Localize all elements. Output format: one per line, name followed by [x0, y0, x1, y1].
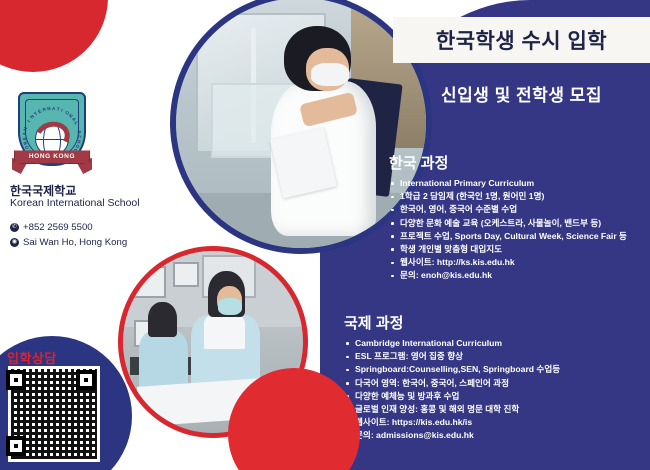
section-international-curriculum: 국제 과정 Cambridge International Curriculum…	[344, 312, 646, 443]
admissions-poster: 한국학생 수시 입학 신입생 및 전학생 모집 한국 과정 Internatio…	[0, 0, 650, 470]
section-heading-international: 국제 과정	[344, 312, 646, 333]
list-item: 프로젝트 수업, Sports Day, Cultural Week, Scie…	[389, 230, 647, 243]
list-item-email[interactable]: 문의: admissions@kis.edu.hk	[344, 429, 646, 442]
list-item-website[interactable]: 웹사이트: https://kis.edu.hk/is	[344, 416, 646, 429]
qr-eye-top-left	[6, 370, 26, 390]
list-item: 다양한 문화 예술 교육 (오케스트라, 사물놀이, 밴드부 등)	[389, 217, 647, 230]
list-item: 글로벌 인재 양성: 홍콩 및 해외 명문 대학 진학	[344, 403, 646, 416]
contact-address: ◉ Sai Wan Ho, Hong Kong	[10, 237, 127, 248]
list-item: 다양한 예체능 및 방과후 수업	[344, 390, 646, 403]
section-korean-curriculum: 한국 과정 International Primary Curriculum 1…	[389, 152, 647, 283]
section-heading-korean: 한국 과정	[389, 152, 647, 173]
list-item-website[interactable]: 웹사이트: http://ks.kis.edu.hk	[389, 256, 647, 269]
list-item: 다국어 영역: 한국어, 중국어, 스페인어 과정	[344, 377, 646, 390]
address-text: Sai Wan Ho, Hong Kong	[23, 237, 127, 248]
red-circle-decoration-top-left	[0, 0, 108, 72]
list-item: Springboard:Counselling,SEN, Springboard…	[344, 363, 646, 376]
list-item: International Primary Curriculum	[389, 177, 647, 190]
list-item: 한국어, 영어, 중국어 수준별 수업	[389, 203, 647, 216]
list-item: Cambridge International Curriculum	[344, 337, 646, 350]
qr-eye-bottom-left	[6, 436, 26, 456]
school-logo: KOREAN INTERNATIONAL SCHOOL HONG KONG	[12, 92, 92, 176]
qr-label: 입학상담	[7, 348, 57, 367]
contact-phone[interactable]: ✆ +852 2569 5500	[10, 222, 93, 233]
school-name-english: Korean International School	[10, 197, 140, 209]
bullet-list-international: Cambridge International Curriculum ESL 프…	[344, 337, 646, 443]
page-title: 한국학생 수시 입학	[393, 17, 650, 63]
phone-icon: ✆	[10, 223, 19, 232]
logo-banner-text: HONG KONG	[14, 149, 90, 164]
list-item: ESL 프로그램: 영어 집중 향상	[344, 350, 646, 363]
bullet-list-korean: International Primary Curriculum 1학급 2 담…	[389, 177, 647, 283]
qr-eye-top-right	[76, 370, 96, 390]
location-pin-icon: ◉	[10, 238, 19, 247]
page-subtitle: 신입생 및 전학생 모집	[393, 78, 650, 108]
list-item: 1학급 2 담임제 (한국인 1명, 원어민 1명)	[389, 190, 647, 203]
phone-number: +852 2569 5500	[23, 222, 93, 233]
list-item-email[interactable]: 문의: enoh@kis.edu.hk	[389, 269, 647, 282]
list-item: 학생 개인별 맞춤형 대입지도	[389, 243, 647, 256]
